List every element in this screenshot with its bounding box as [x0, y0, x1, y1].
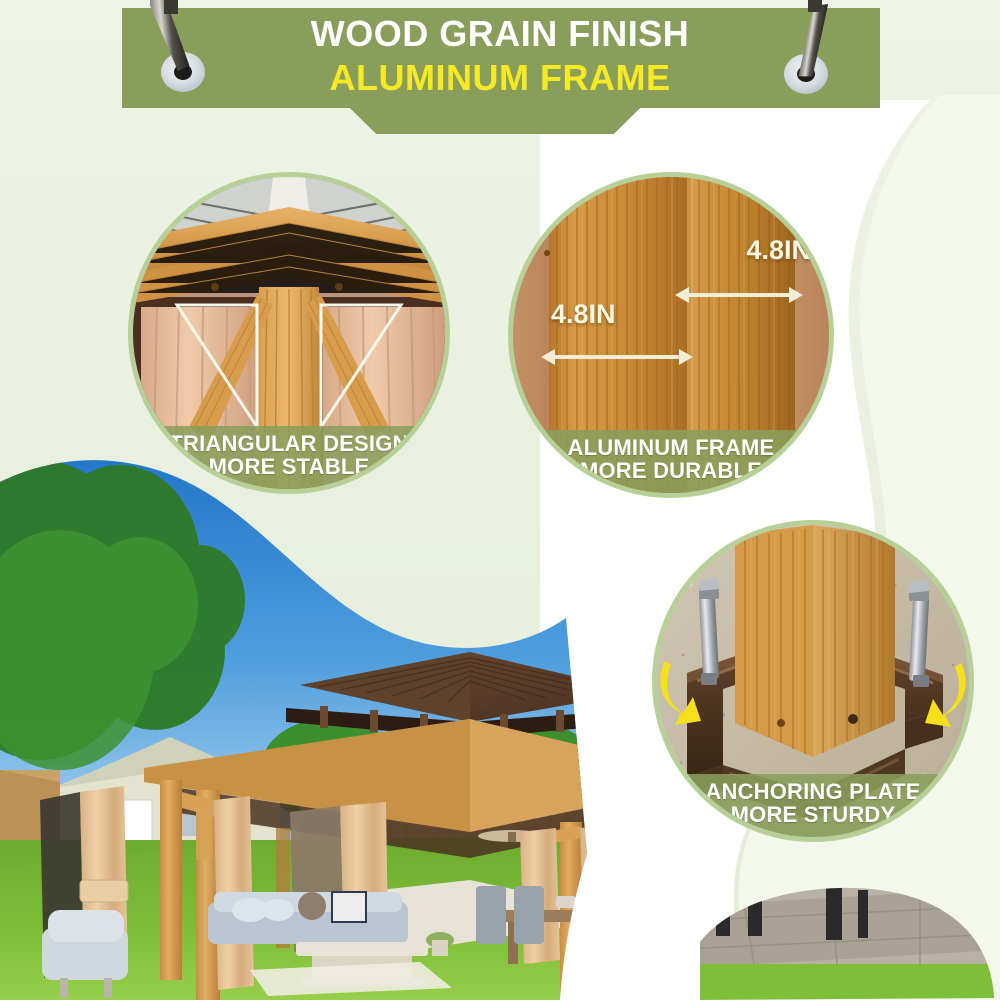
dimension-label-bottom: 4.8IN: [551, 299, 616, 330]
dimension-label-top: 4.8IN: [746, 235, 811, 266]
caption-line-2: MORE STABLE: [137, 456, 441, 479]
header-banner-tab: [330, 108, 660, 134]
callout-triangular-caption: TRIANGULAR DESIGN MORE STABLE: [133, 426, 445, 489]
caption-line-2: MORE STURDY: [661, 804, 965, 827]
infographic-canvas: WOOD GRAIN FINISH ALUMINUM FRAME: [0, 0, 1000, 1000]
hanger-hook-left-icon: [150, 0, 212, 108]
caption-line-1: TRIANGULAR DESIGN: [169, 431, 408, 456]
gazebo-main-photo: [0, 440, 700, 1000]
hanger-hook-right-icon: [778, 0, 840, 108]
callout-anchor-caption: ANCHORING PLATE MORE STURDY: [657, 774, 969, 837]
callout-frame-caption: ALUMINUM FRAME MORE DURABLE: [513, 430, 829, 493]
caption-line-1: ANCHORING PLATE: [705, 779, 920, 804]
callout-aluminum-frame[interactable]: 4.8IN 4.8IN ALUMINUM FRAME MORE DURABLE: [508, 172, 834, 498]
callout-anchoring-plate[interactable]: ANCHORING PLATE MORE STURDY: [652, 520, 974, 842]
patio-strip-photo: [620, 880, 1000, 1000]
caption-line-2: MORE DURABLE: [517, 460, 825, 483]
callout-triangular-design[interactable]: TRIANGULAR DESIGN MORE STABLE: [128, 172, 450, 494]
caption-line-1: ALUMINUM FRAME: [568, 435, 775, 460]
